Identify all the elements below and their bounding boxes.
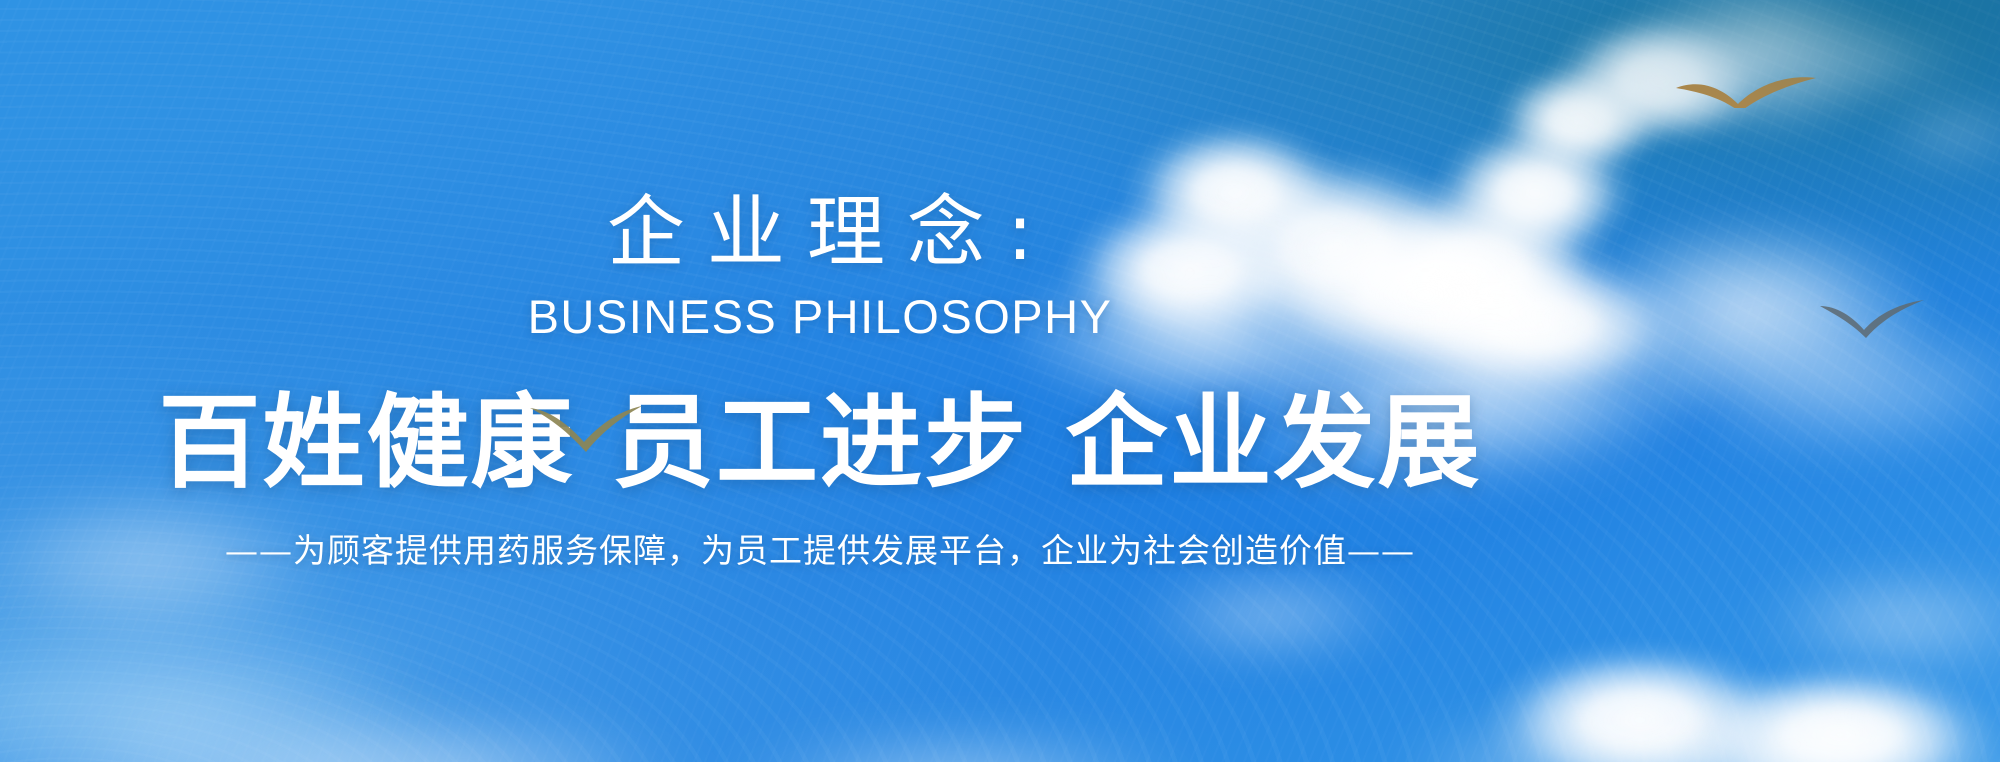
tagline: ——为顾客提供用药服务保障，为员工提供发展平台，企业为社会创造价值——	[225, 531, 1415, 571]
banner-text-block: 企业理念: BUSINESS PHILOSOPHY 百姓健康 员工进步 企业发展…	[0, 0, 1340, 762]
headline-english: BUSINESS PHILOSOPHY	[528, 291, 1113, 343]
headline-chinese: 企业理念:	[585, 191, 1055, 275]
business-philosophy-banner: 企业理念: BUSINESS PHILOSOPHY 百姓健康 员工进步 企业发展…	[0, 0, 2000, 762]
slogan-main: 百姓健康 员工进步 企业发展	[158, 387, 1481, 501]
